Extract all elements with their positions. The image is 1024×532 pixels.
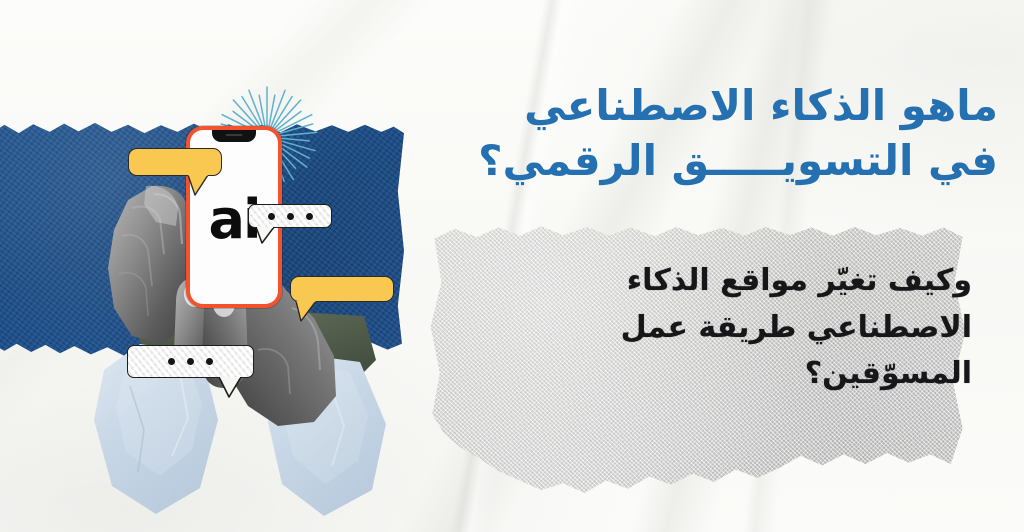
hands-phone-collage: ai [0, 0, 440, 532]
banner-root: ai [0, 0, 1024, 532]
bubble-tail-icon [218, 377, 242, 399]
subheadline-line-2: الاصطناعي طريقة عمل [460, 305, 972, 352]
bubble-tail-icon [255, 227, 275, 245]
headline-line-2: في التسويـــــق الرقمي؟ [398, 133, 998, 188]
dot-1 [168, 358, 175, 365]
dot-3 [206, 358, 213, 365]
headline-line-1: ماهو الذكاء الاصطناعي [398, 78, 998, 133]
subheadline: وكيف تغيّر مواقع الذكاء الاصطناعي طريقة … [460, 258, 972, 398]
dot-1 [268, 213, 275, 220]
subheadline-line-1: وكيف تغيّر مواقع الذكاء [460, 258, 972, 305]
headline: ماهو الذكاء الاصطناعي في التسويـــــق ال… [398, 78, 998, 189]
bubble-tail-icon [295, 301, 317, 323]
typing-dots [249, 205, 331, 227]
bubble-white-middle[interactable] [248, 204, 332, 228]
phone-notch [212, 130, 256, 142]
bubble-tail-icon [187, 175, 209, 197]
subheadline-line-3: المسوّقين؟ [460, 351, 972, 398]
phone-speaker [226, 134, 243, 136]
dot-3 [306, 213, 313, 220]
bubble-yellow-top[interactable] [128, 148, 222, 176]
typing-dots [128, 346, 253, 377]
bubble-yellow-bottom[interactable] [290, 276, 394, 302]
dot-2 [187, 358, 194, 365]
bubble-white-bottom[interactable] [127, 345, 254, 378]
dot-2 [287, 213, 294, 220]
